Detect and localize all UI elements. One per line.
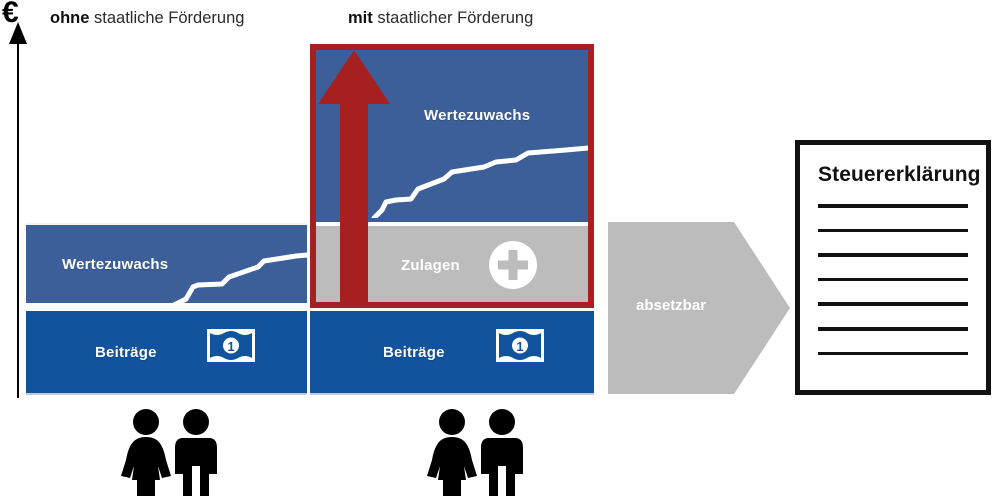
tax-return-document: Steuererklärung <box>795 140 991 395</box>
banknote-value-right: 1 <box>516 339 523 354</box>
document-line <box>818 302 968 306</box>
couple-icon <box>419 408 537 496</box>
plus-circle-icon <box>488 240 538 295</box>
bar-label-growth-left: Wertezuwachs <box>62 256 168 273</box>
deductible-label: absetzbar <box>636 297 706 314</box>
infographic-canvas: € ohne staatliche Förderung mit staatlic… <box>0 0 999 499</box>
document-line <box>818 327 968 331</box>
bar-label-contributions-left: Beiträge <box>95 344 157 361</box>
banknote-icon: 1 <box>496 329 544 367</box>
bar-growth-without-subsidy: Wertezuwachs <box>26 223 307 303</box>
header-left-emphasis: ohne <box>50 9 89 27</box>
document-line <box>818 352 968 355</box>
header-right-rest: staatlicher Förderung <box>373 9 534 27</box>
bar-contributions-with-subsidy: Beiträge <box>310 308 594 395</box>
bar-label-growth-middle: Wertezuwachs <box>424 107 530 124</box>
highlight-box-with-subsidy: Wertezuwachs Zulagen <box>310 44 594 308</box>
bar-label-contributions-middle: Beiträge <box>383 344 445 361</box>
column-header-without-subsidy: ohne staatliche Förderung <box>50 9 244 28</box>
bar-growth-with-subsidy: Wertezuwachs <box>316 50 588 218</box>
tax-document-lines <box>818 204 968 355</box>
document-line <box>818 278 968 281</box>
column-header-with-subsidy: mit staatlicher Förderung <box>348 9 533 28</box>
header-right-emphasis: mit <box>348 9 373 27</box>
banknote-value-left: 1 <box>227 339 234 354</box>
document-line <box>818 204 968 208</box>
bar-contributions-without-subsidy: Beiträge <box>26 308 307 395</box>
bar-label-allowances: Zulagen <box>401 257 460 274</box>
header-left-rest: staatliche Förderung <box>89 9 244 27</box>
bar-allowances-with-subsidy: Zulagen <box>316 222 588 302</box>
document-line <box>818 253 968 257</box>
document-line <box>818 229 968 232</box>
value-axis <box>17 36 19 398</box>
banknote-icon: 1 <box>207 329 255 367</box>
growth-trend-line-middle <box>316 50 588 218</box>
couple-icon <box>113 408 231 496</box>
tax-document-title: Steuererklärung <box>818 163 968 187</box>
